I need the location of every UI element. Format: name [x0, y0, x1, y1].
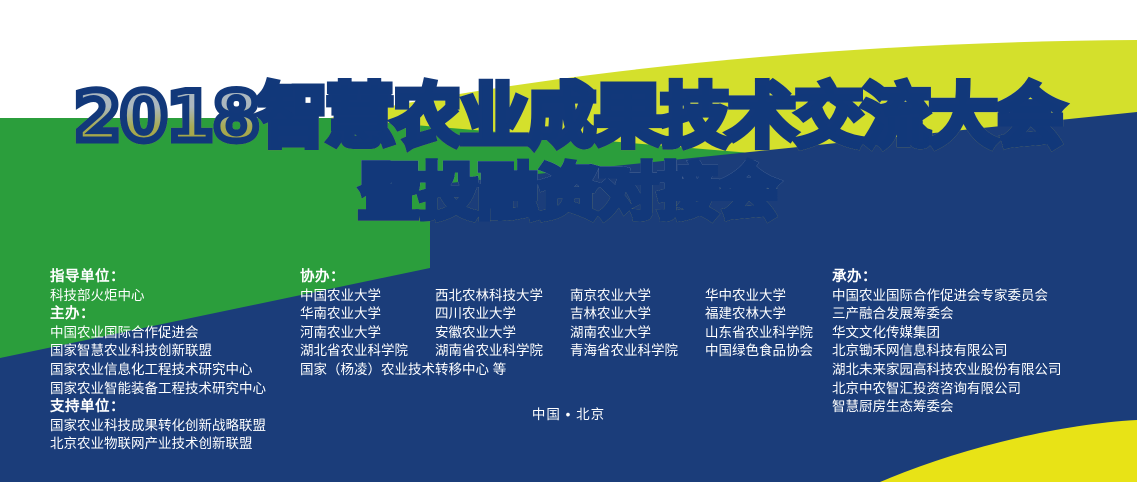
coorganizer-item: 青海省农业科学院 — [570, 342, 705, 361]
coorganizer-item: 安徽农业大学 — [435, 324, 570, 343]
host-item: 湖北未来家园高科技农业股份有限公司 — [832, 361, 1062, 380]
coorganizer-item: 福建农林大学 — [705, 305, 813, 324]
coorganizer-item: 湖北省农业科学院 — [300, 342, 435, 361]
coorganizer-item: 河南农业大学 — [300, 324, 435, 343]
coorganizer-grid: 中国农业大学 西北农林科技大学 南京农业大学 华中农业大学 华南农业大学 四川农… — [300, 287, 813, 380]
coorganizer-item-last: 国家（杨凌）农业技术转移中心 等 — [300, 361, 570, 380]
host-item: 华文文化传媒集团 — [832, 324, 1062, 343]
host-item: 中国农业国际合作促进会专家委员会 — [832, 287, 1062, 306]
coorganizer-item: 中国农业大学 — [300, 287, 435, 306]
coorganizer-item: 湖南农业大学 — [570, 324, 705, 343]
guidance-unit-heading: 指导单位： — [50, 268, 266, 287]
organizer-item: 国家农业智能装备工程技术研究中心 — [50, 380, 266, 399]
supporting-unit-item: 北京农业物联网产业技术创新联盟 — [50, 435, 266, 454]
coorganizers-column: 协办： 中国农业大学 西北农林科技大学 南京农业大学 华中农业大学 华南农业大学… — [300, 268, 813, 380]
host-heading: 承办： — [832, 268, 1062, 287]
coorganizer-heading: 协办： — [300, 268, 813, 287]
coorganizer-item: 吉林农业大学 — [570, 305, 705, 324]
conference-banner: 2018智慧农业成果技术交流大会 暨投融资对接会 指导单位： 科技部火炬中心 主… — [0, 0, 1137, 482]
organizer-item: 国家智慧农业科技创新联盟 — [50, 342, 266, 361]
coorganizer-item: 华南农业大学 — [300, 305, 435, 324]
coorganizer-item: 华中农业大学 — [705, 287, 813, 306]
organizer-item: 中国农业国际合作促进会 — [50, 324, 266, 343]
location-text: 中国 • 北京 — [0, 403, 1137, 423]
hosts-right-column: 承办： 中国农业国际合作促进会专家委员会 三产融合发展筹委会 华文文化传媒集团 … — [832, 268, 1062, 417]
coorganizer-item: 中国绿色食品协会 — [705, 342, 813, 361]
coorganizer-item: 四川农业大学 — [435, 305, 570, 324]
coorganizer-item: 南京农业大学 — [570, 287, 705, 306]
organizers-left-column: 指导单位： 科技部火炬中心 主办： 中国农业国际合作促进会 国家智慧农业科技创新… — [50, 268, 266, 454]
coorganizer-item: 西北农林科技大学 — [435, 287, 570, 306]
guidance-unit-item: 科技部火炬中心 — [50, 287, 266, 306]
organizer-heading: 主办： — [50, 305, 266, 324]
coorganizer-item: 山东省农业科学院 — [705, 324, 813, 343]
host-item: 三产融合发展筹委会 — [832, 305, 1062, 324]
coorganizer-item: 湖南省农业科学院 — [435, 342, 570, 361]
host-item: 北京锄禾网信息科技有限公司 — [832, 342, 1062, 361]
organizer-item: 国家农业信息化工程技术研究中心 — [50, 361, 266, 380]
host-item: 北京中农智汇投资咨询有限公司 — [832, 380, 1062, 399]
